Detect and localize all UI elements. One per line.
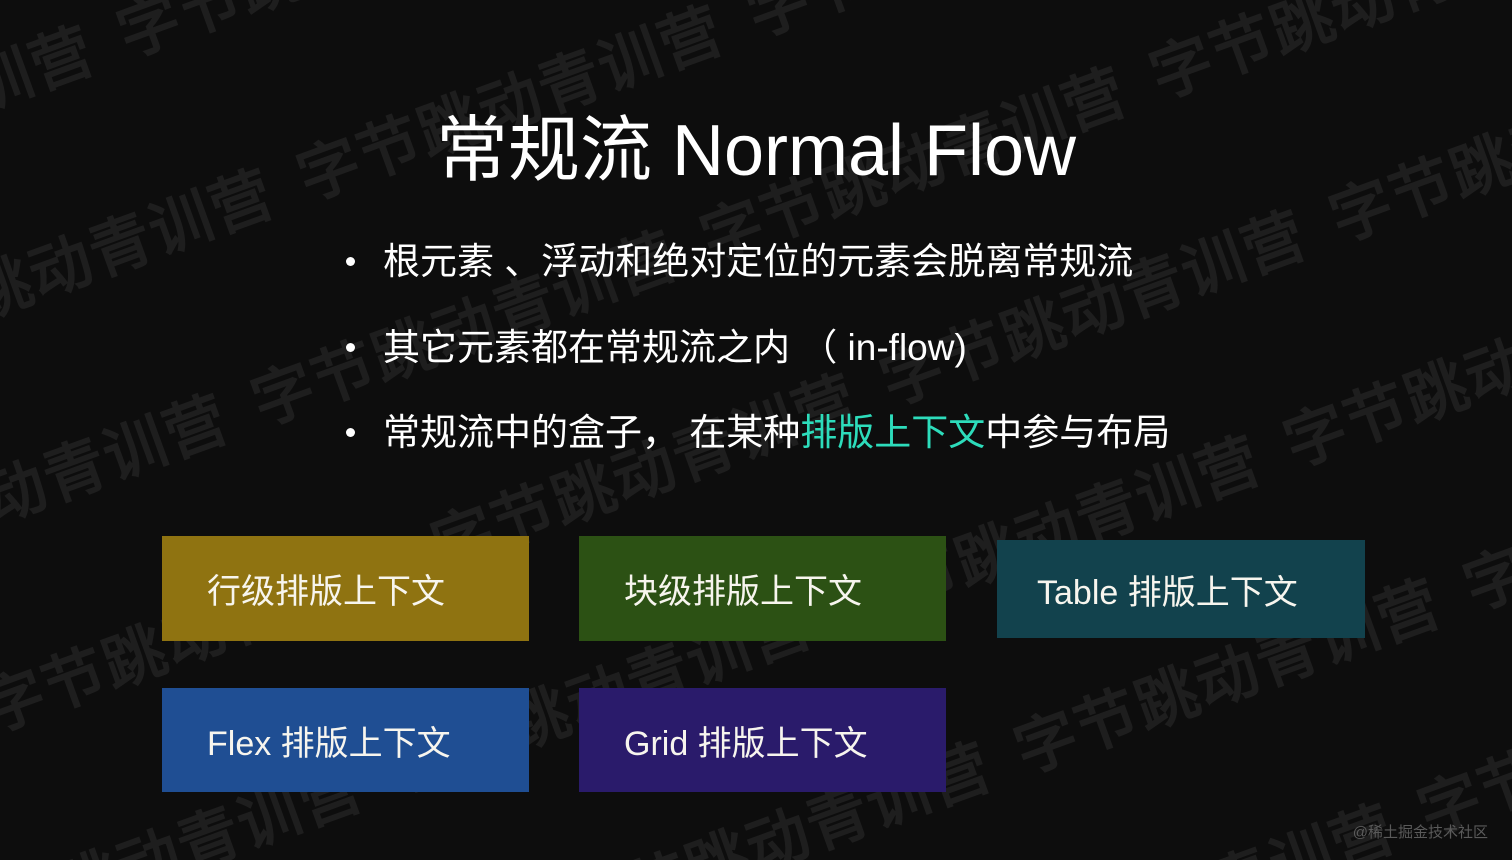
- context-box-block[interactable]: 块级排版上下文: [579, 536, 946, 641]
- list-item: 常规流中的盒子， 在某种排版上下文中参与布局: [346, 411, 1406, 455]
- bullet3-suffix: 中参与布局: [985, 412, 1170, 453]
- bullet-list: 根元素 、浮动和绝对定位的元素会脱离常规流 其它元素都在常规流之内 （ in-f…: [346, 240, 1406, 455]
- context-box-table[interactable]: Table 排版上下文: [997, 540, 1365, 638]
- slide-content: 常规流 Normal Flow 根元素 、浮动和绝对定位的元素会脱离常规流 其它…: [0, 0, 1512, 860]
- presentation-slide: 字节跳动青训营 字节跳动青训营 字节跳动青训营 字节跳动青训营 字节跳动青训营 …: [0, 0, 1512, 860]
- context-box-flex[interactable]: Flex 排版上下文: [162, 688, 529, 792]
- credit-watermark: @稀土掘金技术社区: [1353, 821, 1488, 842]
- bullet3-prefix: 常规流中的盒子， 在某种: [383, 412, 800, 453]
- context-box-grid-layout[interactable]: Grid 排版上下文: [579, 688, 946, 792]
- list-item: 根元素 、浮动和绝对定位的元素会脱离常规流: [346, 240, 1406, 284]
- page-title: 常规流 Normal Flow: [0, 110, 1512, 193]
- context-box-inline[interactable]: 行级排版上下文: [162, 536, 529, 641]
- bullet3-highlight: 排版上下文: [800, 412, 985, 453]
- list-item: 其它元素都在常规流之内 （ in-flow): [346, 326, 1406, 370]
